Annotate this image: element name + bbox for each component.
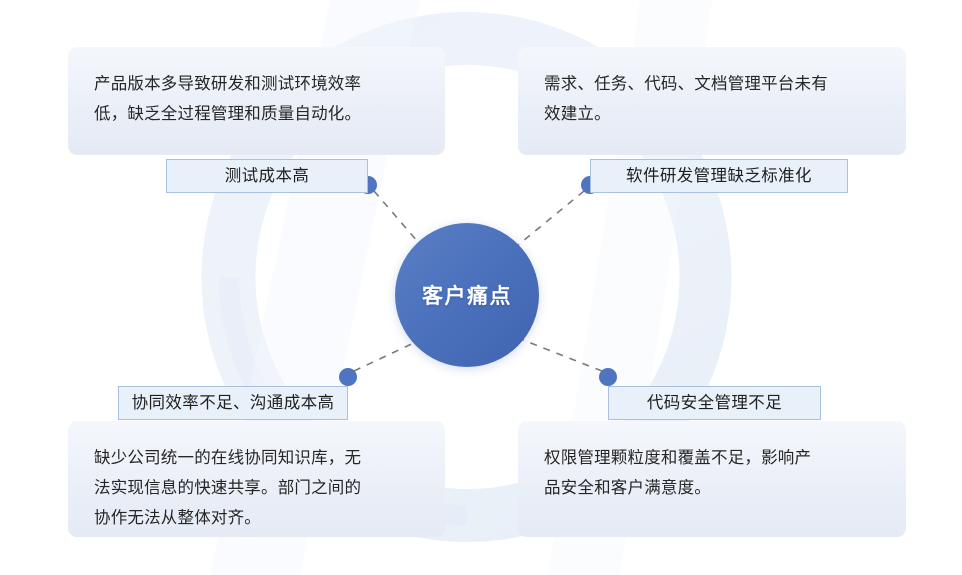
infographic-canvas: 产品版本多导致研发和测试环境效率 低，缺乏全过程管理和质量自动化。 测试成本高 …	[0, 0, 962, 575]
label-text: 测试成本高	[225, 168, 310, 185]
label-text: 代码安全管理不足	[647, 395, 782, 412]
label-text: 协同效率不足、沟通成本高	[132, 395, 335, 412]
card-rnd-standardization: 需求、任务、代码、文档管理平台未有 效建立。	[518, 47, 906, 155]
label-collaboration-efficiency[interactable]: 协同效率不足、沟通成本高	[118, 386, 348, 420]
label-testing-cost[interactable]: 测试成本高	[166, 159, 368, 193]
card-description: 权限管理颗粒度和覆盖不足，影响产 品安全和客户满意度。	[544, 443, 880, 503]
label-rnd-standardization[interactable]: 软件研发管理缺乏标准化	[590, 159, 848, 193]
center-hub-label: 客户痛点	[422, 280, 512, 310]
card-description: 需求、任务、代码、文档管理平台未有 效建立。	[544, 69, 880, 129]
connector-bottom-left	[354, 340, 420, 371]
connector-top-left	[374, 191, 424, 249]
card-description: 产品版本多导致研发和测试环境效率 低，缺乏全过程管理和质量自动化。	[94, 69, 419, 129]
label-text: 软件研发管理缺乏标准化	[626, 168, 812, 185]
node-dot-bottom-left	[339, 368, 357, 386]
card-code-security: 权限管理颗粒度和覆盖不足，影响产 品安全和客户满意度。	[518, 421, 906, 537]
center-hub[interactable]: 客户痛点	[395, 223, 539, 367]
card-description: 缺少公司统一的在线协同知识库，无 法实现信息的快速共享。部门之间的 协作无法从整…	[94, 443, 419, 533]
connector-top-right	[512, 191, 584, 250]
card-testing-cost: 产品版本多导致研发和测试环境效率 低，缺乏全过程管理和质量自动化。	[68, 47, 445, 155]
card-collaboration-efficiency: 缺少公司统一的在线协同知识库，无 法实现信息的快速共享。部门之间的 协作无法从整…	[68, 421, 445, 537]
connector-bottom-right	[518, 338, 602, 371]
node-dot-bottom-right	[599, 368, 617, 386]
label-code-security[interactable]: 代码安全管理不足	[608, 386, 821, 420]
